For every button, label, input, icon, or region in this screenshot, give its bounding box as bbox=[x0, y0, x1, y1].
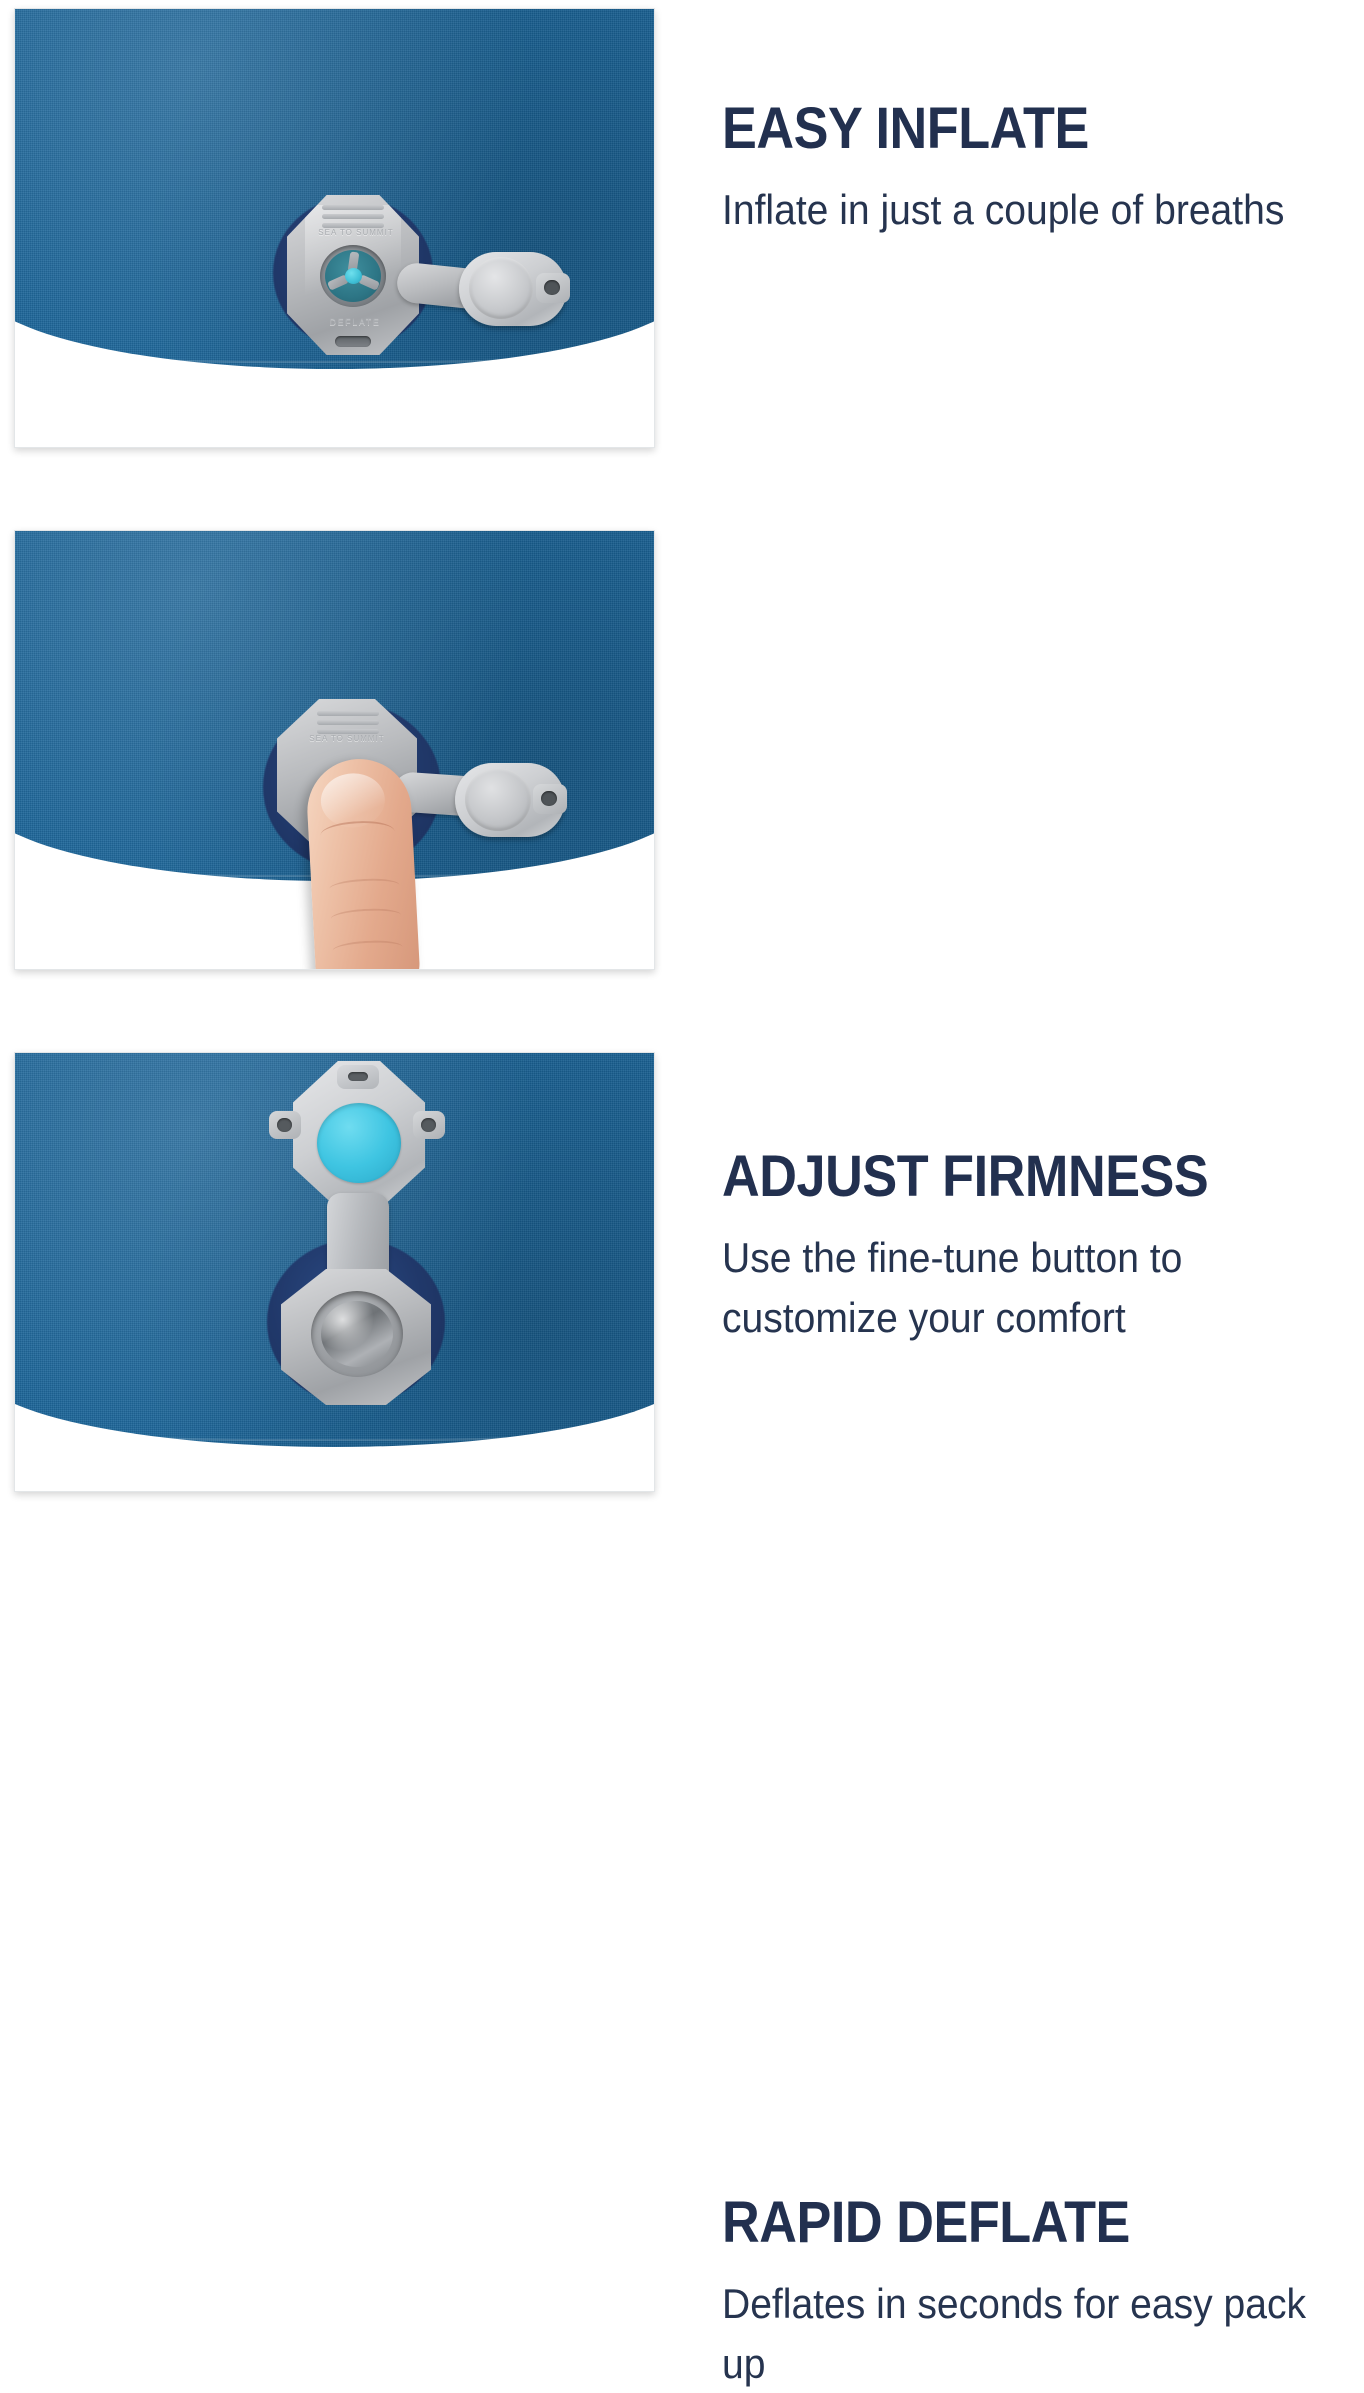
valve-centre-cyan bbox=[345, 268, 362, 284]
feature-text-easy-inflate: EASY INFLATE Inflate in just a couple of… bbox=[722, 100, 1364, 240]
valve-grip-ridge bbox=[322, 205, 384, 210]
valve-cap-plug bbox=[465, 768, 531, 831]
one-way-valve bbox=[320, 245, 386, 307]
deflate-port-membrane bbox=[321, 1301, 393, 1367]
deflate-label: DEFLATE bbox=[312, 317, 398, 327]
feature-row-adjust-firmness: SEA TO SUMMIT ADJUST FIRMNESS Use the fi… bbox=[0, 530, 1364, 970]
feature-title: RAPID DEFLATE bbox=[722, 2194, 1300, 2252]
feature-row-easy-inflate: SEA TO SUMMIT DEFLATE EASY INFLATE Infla… bbox=[0, 8, 1364, 448]
product-photo-rapid-deflate bbox=[14, 1052, 655, 1492]
feature-row-rapid-deflate: RAPID DEFLATE Deflates in seconds for ea… bbox=[0, 1052, 1364, 1492]
product-photo-easy-inflate: SEA TO SUMMIT DEFLATE bbox=[14, 8, 655, 448]
valve-grip-ridge bbox=[317, 711, 379, 716]
finger-crease bbox=[329, 877, 400, 897]
valve-cap-plug bbox=[469, 257, 533, 319]
valve-brand-text: SEA TO SUMMIT bbox=[308, 228, 404, 237]
product-photo-adjust-firmness: SEA TO SUMMIT bbox=[14, 530, 655, 970]
feature-description: Deflates in seconds for easy pack up bbox=[722, 2274, 1319, 2393]
fingernail-edge bbox=[320, 819, 395, 847]
valve-teal-membrane bbox=[325, 250, 381, 302]
valve-grip-ridge bbox=[322, 214, 384, 219]
feature-title: EASY INFLATE bbox=[722, 100, 1300, 158]
valve-brand-text: SEA TO SUMMIT bbox=[297, 734, 397, 743]
valve-cap-side-tab bbox=[269, 1111, 301, 1139]
feature-infographic: SEA TO SUMMIT DEFLATE EASY INFLATE Infla… bbox=[0, 0, 1364, 1500]
valve-cap-pull-tab bbox=[533, 784, 567, 814]
pad-seam-line bbox=[14, 1409, 655, 1441]
finger-pressing-button bbox=[305, 756, 421, 970]
valve-grip-ridge bbox=[317, 720, 379, 725]
finger-crease bbox=[332, 939, 403, 959]
feature-description: Inflate in just a couple of breaths bbox=[722, 180, 1319, 240]
valve-cap-pull-tab bbox=[536, 273, 570, 303]
valve-anchor-slot bbox=[335, 336, 371, 347]
valve-cyan-disc bbox=[317, 1103, 401, 1183]
finger-crease bbox=[331, 907, 402, 927]
valve-cap-side-tab bbox=[413, 1111, 445, 1139]
feature-text-rapid-deflate: RAPID DEFLATE Deflates in seconds for ea… bbox=[722, 2194, 1364, 2393]
valve-cap-pull-tab bbox=[337, 1065, 379, 1089]
